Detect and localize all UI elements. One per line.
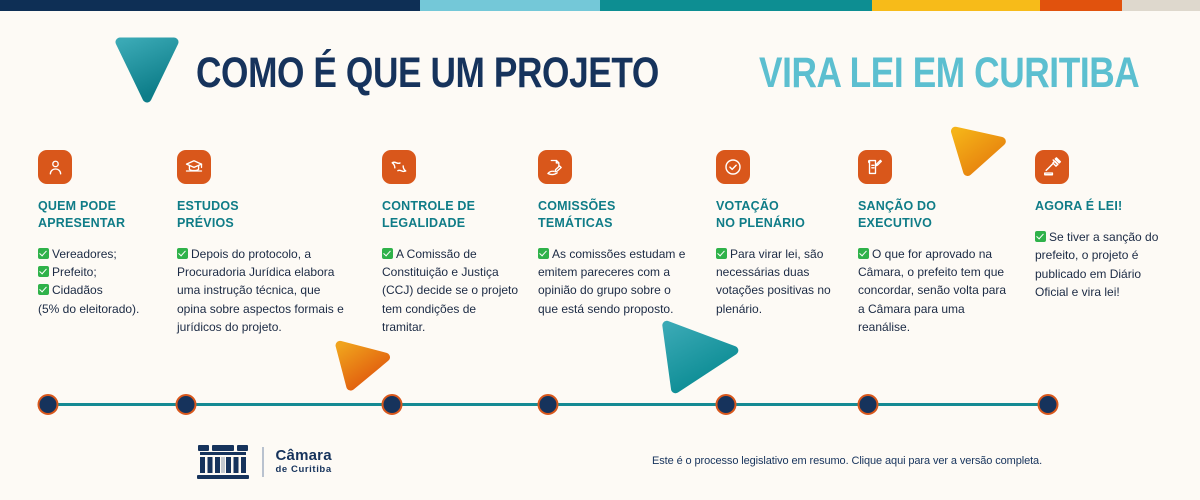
timeline-dot-5[interactable]: [716, 394, 737, 415]
step-item-text: A Comissão de Constituição e Justiça (CC…: [382, 247, 518, 334]
step-item: A Comissão de Constituição e Justiça (CC…: [382, 245, 522, 337]
step-item-text: Para virar lei, são necessárias duas vot…: [716, 247, 831, 316]
step-body-estudos-previos: Depois do protocolo, a Procuradoria Jurí…: [177, 245, 349, 337]
check-icon: [38, 284, 49, 295]
timeline-dot-1[interactable]: [38, 394, 59, 415]
step-title-quem-pode-apresentar: QUEM PODE APRESENTAR: [38, 198, 162, 232]
book-stand-icon: [177, 150, 211, 184]
step-controle-de-legalidade: CONTROLE DE LEGALIDADEA Comissão de Cons…: [382, 150, 522, 337]
check-icon: [716, 248, 727, 259]
infographic-canvas: COMO É QUE UM PROJETOVIRA LEI EM CURITIB…: [0, 0, 1200, 500]
step-sancao-do-executivo: SANÇÃO DO EXECUTIVOO que for aprovado na…: [858, 150, 1014, 337]
step-item-text: O que for aprovado na Câmara, o prefeito…: [858, 247, 1006, 334]
check-icon: [1035, 231, 1046, 242]
scales-icon: [382, 150, 416, 184]
check-icon: [858, 248, 869, 259]
step-item: Vereadores;: [38, 245, 162, 263]
step-item-text: As comissões estudam e emitem pareceres …: [538, 247, 685, 316]
timeline-dot-6[interactable]: [858, 394, 879, 415]
step-body-votacao-no-plenario: Para virar lei, são necessárias duas vot…: [716, 245, 844, 318]
topbar-segment-orange: [1040, 0, 1122, 11]
topbar-segment-teal: [600, 0, 872, 11]
hand-document-icon: [538, 150, 572, 184]
step-title-comissoes-tematicas: COMISSÕES TEMÁTICAS: [538, 198, 690, 232]
check-icon: [38, 266, 49, 277]
page-title-part2: VIRA LEI EM CURITIBA: [759, 52, 1139, 95]
step-body-quem-pode-apresentar: Vereadores;Prefeito;Cidadãos(5% do eleit…: [38, 245, 162, 318]
step-item-text: Cidadãos: [52, 283, 103, 297]
check-icon: [538, 248, 549, 259]
step-item-text: Se tiver a sanção do prefeito, o projeto…: [1035, 230, 1158, 299]
step-body-comissoes-tematicas: As comissões estudam e emitem pareceres …: [538, 245, 690, 318]
step-votacao-no-plenario: VOTAÇÃO NO PLENÁRIOPara virar lei, são n…: [716, 150, 844, 318]
check-circle-icon: [716, 150, 750, 184]
step-title-sancao-do-executivo: SANÇÃO DO EXECUTIVO: [858, 198, 1014, 232]
gavel-icon: [1035, 150, 1069, 184]
check-icon: [38, 248, 49, 259]
step-title-estudos-previos: ESTUDOS PRÉVIOS: [177, 198, 349, 232]
step-item: Depois do protocolo, a Procuradoria Jurí…: [177, 245, 349, 337]
timeline-dot-3[interactable]: [382, 394, 403, 415]
topbar-segment-navy: [0, 0, 420, 11]
step-item: Para virar lei, são necessárias duas vot…: [716, 245, 844, 318]
logo-title: Câmara: [276, 448, 332, 465]
footer-note[interactable]: Este é o processo legislativo em resumo.…: [652, 455, 1042, 467]
document-pen-icon: [858, 150, 892, 184]
step-trailing-text: (5% do eleitorado).: [38, 300, 162, 318]
check-icon: [177, 248, 188, 259]
step-item-text: Prefeito;: [52, 265, 97, 279]
step-item-text: Depois do protocolo, a Procuradoria Jurí…: [177, 247, 344, 334]
step-title-votacao-no-plenario: VOTAÇÃO NO PLENÁRIO: [716, 198, 844, 232]
camara-logo[interactable]: Câmara de Curitiba: [196, 440, 332, 484]
timeline-dot-2[interactable]: [176, 394, 197, 415]
step-title-controle-de-legalidade: CONTROLE DE LEGALIDADE: [382, 198, 522, 232]
page-title-part1: COMO É QUE UM PROJETO: [196, 52, 659, 95]
logo-subtitle: de Curitiba: [276, 465, 332, 476]
logo-wordmark: Câmara de Curitiba: [276, 448, 332, 475]
steps-container: QUEM PODE APRESENTARVereadores;Prefeito;…: [0, 150, 1200, 360]
step-agora-e-lei: AGORA É LEI!Se tiver a sanção do prefeit…: [1035, 150, 1175, 301]
step-estudos-previos: ESTUDOS PRÉVIOSDepois do protocolo, a Pr…: [177, 150, 349, 337]
teal-triangle-header: [112, 34, 182, 104]
timeline-dot-4[interactable]: [538, 394, 559, 415]
page-title: COMO É QUE UM PROJETOVIRA LEI EM CURITIB…: [196, 52, 1200, 95]
timeline: [0, 390, 1200, 420]
step-quem-pode-apresentar: QUEM PODE APRESENTARVereadores;Prefeito;…: [38, 150, 162, 318]
step-item: Se tiver a sanção do prefeito, o projeto…: [1035, 228, 1175, 301]
step-title-agora-e-lei: AGORA É LEI!: [1035, 198, 1175, 215]
step-item: O que for aprovado na Câmara, o prefeito…: [858, 245, 1014, 337]
timeline-dot-7[interactable]: [1038, 394, 1059, 415]
step-body-sancao-do-executivo: O que for aprovado na Câmara, o prefeito…: [858, 245, 1014, 337]
check-icon: [382, 248, 393, 259]
step-comissoes-tematicas: COMISSÕES TEMÁTICASAs comissões estudam …: [538, 150, 690, 318]
topbar-segment-light-blue: [420, 0, 600, 11]
step-item: Cidadãos: [38, 281, 162, 299]
step-body-agora-e-lei: Se tiver a sanção do prefeito, o projeto…: [1035, 228, 1175, 301]
logo-divider: [262, 447, 264, 477]
step-item-text: Vereadores;: [52, 247, 117, 261]
person-icon: [38, 150, 72, 184]
step-item: Prefeito;: [38, 263, 162, 281]
step-item: As comissões estudam e emitem pareceres …: [538, 245, 690, 318]
camara-building-icon: [196, 442, 250, 482]
top-color-bar: [0, 0, 1200, 11]
topbar-segment-yellow: [872, 0, 1040, 11]
step-body-controle-de-legalidade: A Comissão de Constituição e Justiça (CC…: [382, 245, 522, 337]
topbar-segment-beige: [1122, 0, 1200, 11]
